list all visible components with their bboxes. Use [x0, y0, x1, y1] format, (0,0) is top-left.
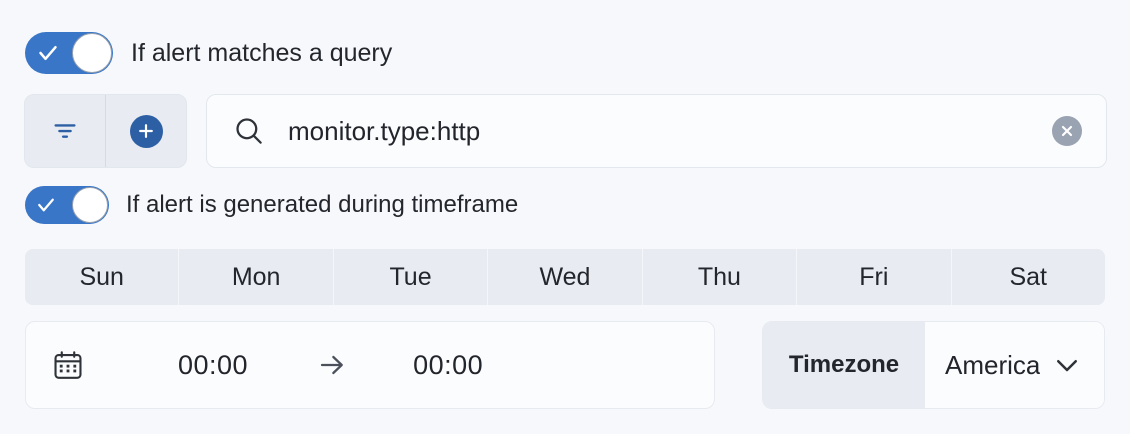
day-cell-sat[interactable]: Sat: [951, 249, 1105, 305]
check-icon: [38, 43, 58, 63]
timezone-control: Timezone America: [762, 321, 1105, 409]
timeframe-condition-toggle[interactable]: [25, 186, 109, 224]
start-time-value[interactable]: 00:00: [178, 350, 248, 381]
query-search-field[interactable]: monitor.type:http: [206, 94, 1107, 168]
query-condition-label: If alert matches a query: [131, 39, 392, 68]
conditions-panel: If alert matches a query: [0, 0, 1130, 434]
timeframe-condition-row: If alert is generated during timeframe: [25, 186, 518, 224]
filter-button[interactable]: [25, 95, 105, 167]
query-condition-row: If alert matches a query: [25, 32, 392, 74]
timezone-value: America: [945, 350, 1040, 381]
day-cell-tue[interactable]: Tue: [333, 249, 487, 305]
plus-circle-icon: [130, 115, 163, 148]
day-cell-thu[interactable]: Thu: [642, 249, 796, 305]
search-icon: [232, 114, 266, 148]
search-input[interactable]: monitor.type:http: [288, 116, 1106, 147]
timezone-label[interactable]: Timezone: [763, 322, 925, 408]
query-bar: monitor.type:http: [24, 94, 1107, 168]
check-icon: [37, 196, 55, 214]
timeframe-condition-label: If alert is generated during timeframe: [126, 191, 518, 219]
end-time-value[interactable]: 00:00: [413, 350, 483, 381]
calendar-icon: [51, 348, 85, 382]
day-cell-sun[interactable]: Sun: [25, 249, 178, 305]
add-query-button[interactable]: [105, 95, 186, 167]
clear-search-button[interactable]: [1052, 116, 1082, 146]
day-cell-wed[interactable]: Wed: [487, 249, 641, 305]
query-condition-toggle[interactable]: [25, 32, 113, 74]
timezone-select[interactable]: America: [925, 322, 1104, 408]
chevron-down-icon: [1052, 350, 1082, 380]
toggle-knob: [72, 33, 112, 73]
time-range-field[interactable]: 00:00 00:00: [25, 321, 715, 409]
day-cell-fri[interactable]: Fri: [796, 249, 950, 305]
arrow-right-icon: [316, 349, 348, 381]
day-cell-mon[interactable]: Mon: [178, 249, 332, 305]
close-icon: [1059, 123, 1075, 139]
toggle-knob: [72, 187, 108, 223]
query-action-group: [24, 94, 187, 168]
filter-icon: [50, 116, 80, 146]
day-of-week-selector: Sun Mon Tue Wed Thu Fri Sat: [25, 249, 1105, 305]
